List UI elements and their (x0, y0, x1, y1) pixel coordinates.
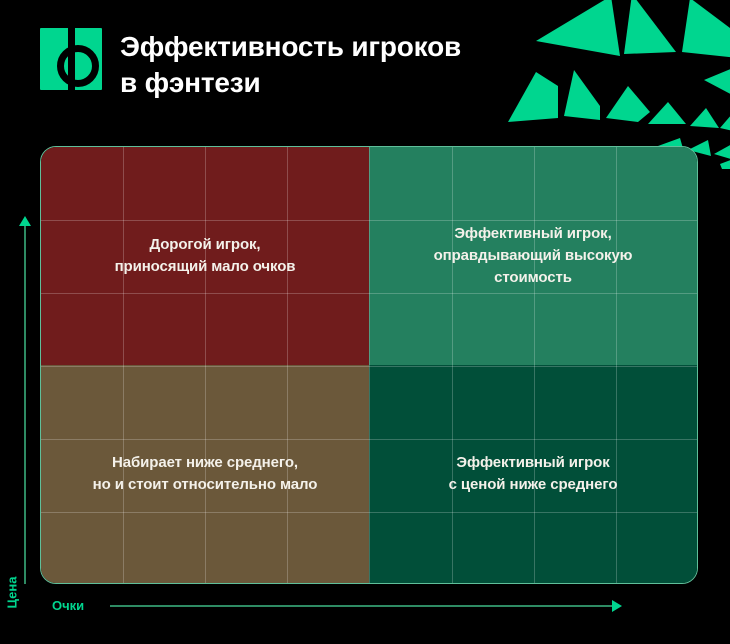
x-axis-line (110, 605, 612, 607)
quadrant-bottom-left-label: Набирает ниже среднего, но и стоит относ… (93, 452, 318, 496)
logo-ring (57, 45, 99, 87)
y-axis (14, 216, 36, 584)
decorative-burst-icon (508, 0, 730, 169)
x-axis-arrow-icon (612, 600, 622, 612)
quadrant-matrix-wrapper: Дорогой игрок, приносящий мало очков Эфф… (40, 146, 698, 584)
quadrant-top-right-label: Эффективный игрок, оправдывающий высокую… (434, 223, 633, 288)
header: Эффективность игроков в фэнтези (40, 28, 461, 100)
y-axis-line (24, 226, 26, 584)
y-axis-arrow-icon (19, 216, 31, 226)
quadrant-bottom-right-label: Эффективный игрок с ценой ниже среднего (449, 452, 618, 496)
quadrant-bottom-left[interactable]: Набирает ниже среднего, но и стоит относ… (41, 365, 369, 583)
page-title: Эффективность игроков в фэнтези (120, 28, 461, 100)
quadrant-top-right[interactable]: Эффективный игрок, оправдывающий высокую… (369, 147, 697, 365)
quadrant-bottom-right[interactable]: Эффективный игрок с ценой ниже среднего (369, 365, 697, 583)
x-axis-label: Очки (52, 598, 84, 613)
x-axis: Очки (52, 596, 622, 618)
infographic-canvas: Эффективность игроков в фэнтези Цена Дор… (0, 0, 730, 644)
brand-logo-icon (40, 28, 102, 90)
quadrant-matrix: Дорогой игрок, приносящий мало очков Эфф… (40, 146, 698, 584)
y-axis-label: Цена (5, 565, 20, 621)
quadrant-top-left[interactable]: Дорогой игрок, приносящий мало очков (41, 147, 369, 365)
quadrant-top-left-label: Дорогой игрок, приносящий мало очков (115, 234, 296, 278)
